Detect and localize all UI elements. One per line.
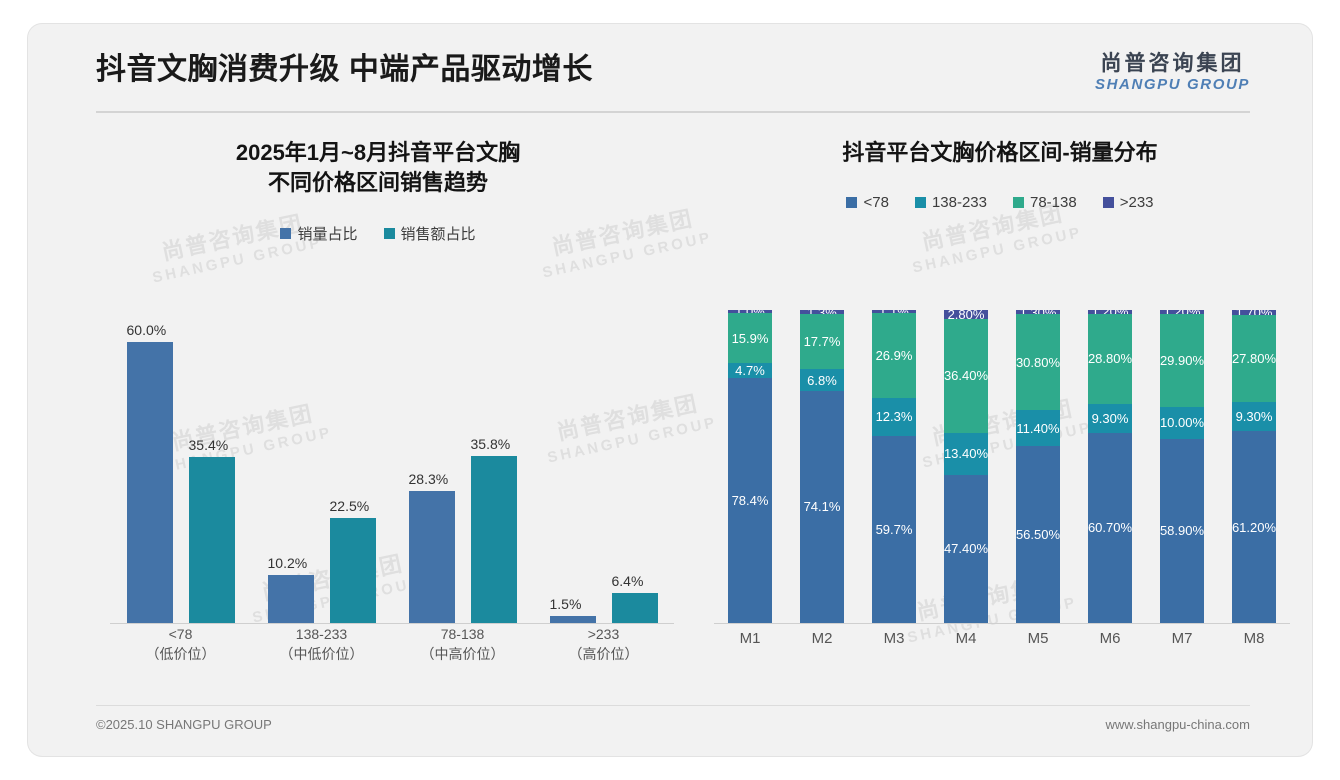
stacked-bar[interactable]: 1.3%17.7%6.8%74.1%	[800, 310, 844, 623]
stacked-bar[interactable]: 1.0%15.9%4.7%78.4%	[728, 310, 772, 623]
bar[interactable]	[550, 616, 596, 623]
bar-group: 1.5%6.4%	[539, 304, 669, 623]
stacked-bar-segment[interactable]: 12.3%	[872, 398, 916, 436]
bar-value-label: 28.3%	[409, 471, 449, 487]
stacked-bar-segment[interactable]: 36.40%	[944, 319, 988, 433]
segment-value-label: 12.3%	[876, 409, 913, 424]
bar-value-label: 22.5%	[330, 498, 370, 514]
x-axis-label: M5	[1016, 624, 1060, 647]
stacked-bar-segment[interactable]: 29.90%	[1160, 314, 1204, 408]
segment-value-label: 26.9%	[876, 348, 913, 363]
segment-value-label: 60.70%	[1088, 520, 1132, 535]
segment-value-label: 59.7%	[876, 522, 913, 537]
segment-value-label: 47.40%	[944, 541, 988, 556]
legend-swatch-icon	[280, 228, 291, 239]
stacked-bar-segment[interactable]: 9.30%	[1232, 402, 1276, 431]
left-chart-title: 2025年1月~8月抖音平台文胸 不同价格区间销售趋势	[68, 138, 688, 197]
bar-column[interactable]: 35.8%	[471, 304, 517, 623]
legend-item[interactable]: 销售额占比	[384, 223, 476, 244]
stacked-bar-segment[interactable]: 13.40%	[944, 433, 988, 475]
legend-label: <78	[863, 194, 888, 211]
legend-swatch-icon	[384, 228, 395, 239]
x-axis-label-tier: （低价位）	[116, 644, 246, 664]
stacked-bar-segment[interactable]: 56.50%	[1016, 446, 1060, 623]
legend-swatch-icon	[846, 197, 857, 208]
segment-value-label: 30.80%	[1016, 355, 1060, 370]
stacked-bar[interactable]: 2.80%36.40%13.40%47.40%	[944, 310, 988, 623]
legend-swatch-icon	[915, 197, 926, 208]
stacked-bar-segment[interactable]: 6.8%	[800, 369, 844, 390]
bar[interactable]	[330, 518, 376, 623]
segment-value-label: 61.20%	[1232, 520, 1276, 535]
bar-value-label: 35.4%	[189, 437, 229, 453]
stacked-bar[interactable]: 1.70%27.80%9.30%61.20%	[1232, 310, 1276, 623]
bar-column[interactable]: 28.3%	[409, 304, 455, 623]
stacked-bar-segment[interactable]: 61.20%	[1232, 431, 1276, 623]
header-divider	[96, 111, 1250, 113]
segment-value-label: 9.30%	[1236, 409, 1273, 424]
bar-value-label: 60.0%	[127, 322, 167, 338]
stacked-bar-segment[interactable]: 58.90%	[1160, 439, 1204, 623]
legend-item[interactable]: 销量占比	[280, 223, 357, 244]
x-axis-label: M2	[800, 624, 844, 647]
logo-text-en: SHANGPU GROUP	[1095, 76, 1250, 94]
left-chart-title-line2: 不同价格区间销售趋势	[68, 168, 688, 198]
footer-copyright: ©2025.10 SHANGPU GROUP	[96, 717, 272, 732]
segment-value-label: 28.80%	[1088, 351, 1132, 366]
bar-column[interactable]: 60.0%	[127, 304, 173, 623]
stacked-bar-segment[interactable]: 26.9%	[872, 313, 916, 397]
bar[interactable]	[409, 491, 455, 623]
segment-value-label: 78.4%	[732, 493, 769, 508]
bar[interactable]	[127, 342, 173, 623]
bar[interactable]	[189, 457, 235, 623]
x-axis-label-range: >233	[539, 624, 669, 644]
x-axis-label-tier: （中高价位）	[398, 644, 528, 664]
segment-value-label: 58.90%	[1160, 523, 1204, 538]
stacked-bar-segment[interactable]: 9.30%	[1088, 404, 1132, 433]
x-axis-label-range: 138-233	[257, 624, 387, 644]
x-axis-label-range: <78	[116, 624, 246, 644]
bar-value-label: 1.5%	[550, 596, 582, 612]
stacked-bar-segment[interactable]: 28.80%	[1088, 314, 1132, 404]
segment-value-label: 9.30%	[1092, 411, 1129, 426]
stacked-bar[interactable]: 1.1%26.9%12.3%59.7%	[872, 310, 916, 623]
segment-value-label: 10.00%	[1160, 415, 1204, 430]
logo-text-cn: 尚普咨询集团	[1095, 52, 1250, 76]
left-chart-plot: 60.0%35.4%10.2%22.5%28.3%35.8%1.5%6.4% <…	[68, 304, 688, 664]
x-axis-label: >233（高价位）	[539, 624, 669, 664]
left-chart-title-line1: 2025年1月~8月抖音平台文胸	[68, 138, 688, 168]
legend-label: >233	[1120, 194, 1154, 211]
x-axis-label: M8	[1232, 624, 1276, 647]
segment-value-label: 15.9%	[732, 331, 769, 346]
legend-label: 销售额占比	[401, 223, 476, 244]
stacked-bar-segment[interactable]: 4.7%	[728, 363, 772, 378]
stacked-bar-segment[interactable]: 17.7%	[800, 314, 844, 369]
left-chart-legend: 销量占比销售额占比	[68, 223, 688, 244]
stacked-bar-segment[interactable]: 15.9%	[728, 313, 772, 363]
segment-value-label: 36.40%	[944, 368, 988, 383]
bar-group: 10.2%22.5%	[257, 304, 387, 623]
segment-value-label: 6.8%	[807, 373, 837, 388]
x-axis-label: M3	[872, 624, 916, 647]
slide-header: 抖音文胸消费升级 中端产品驱动增长 尚普咨询集团 SHANGPU GROUP	[28, 24, 1312, 116]
legend-item[interactable]: 78-138	[1013, 194, 1077, 211]
bar-value-label: 10.2%	[268, 555, 308, 571]
x-axis-label: M4	[944, 624, 988, 647]
bar-column[interactable]: 6.4%	[612, 304, 658, 623]
x-axis-label: 138-233（中低价位）	[257, 624, 387, 664]
bar[interactable]	[471, 456, 517, 623]
stacked-bar-segment[interactable]: 27.80%	[1232, 315, 1276, 402]
legend-label: 138-233	[932, 194, 987, 211]
stacked-bar-segment[interactable]: 47.40%	[944, 475, 988, 623]
legend-item[interactable]: >233	[1103, 194, 1154, 211]
bar-group: 28.3%35.8%	[398, 304, 528, 623]
bar-column[interactable]: 35.4%	[189, 304, 235, 623]
footer-divider	[96, 705, 1250, 706]
stacked-bar[interactable]: 1.20%29.90%10.00%58.90%	[1160, 310, 1204, 623]
legend-swatch-icon	[1103, 197, 1114, 208]
segment-value-label: 74.1%	[804, 499, 841, 514]
slide-canvas: 尚普咨询集团 SHANGPU GROUP 尚普咨询集团 SHANGPU GROU…	[28, 24, 1312, 756]
footer-website: www.shangpu-china.com	[1105, 717, 1250, 732]
legend-swatch-icon	[1013, 197, 1024, 208]
segment-value-label: 56.50%	[1016, 527, 1060, 542]
x-axis-label-tier: （中低价位）	[257, 644, 387, 664]
stacked-bar-segment[interactable]: 10.00%	[1160, 407, 1204, 438]
stacked-bar-segment[interactable]: 74.1%	[800, 391, 844, 623]
stacked-bar-segment[interactable]: 59.7%	[872, 436, 916, 623]
x-axis-label: 78-138（中高价位）	[398, 624, 528, 664]
stacked-bar[interactable]: 1.30%30.80%11.40%56.50%	[1016, 310, 1060, 623]
bar-value-label: 35.8%	[471, 436, 511, 452]
segment-value-label: 13.40%	[944, 446, 988, 461]
right-chart-panel: 抖音平台文胸价格区间-销量分布 <78138-23378-138>233 1.0…	[700, 124, 1300, 714]
x-axis-label-range: 78-138	[398, 624, 528, 644]
stacked-bar-segment[interactable]: 30.80%	[1016, 314, 1060, 410]
stacked-bar-segment[interactable]: 78.4%	[728, 378, 772, 623]
bar-column[interactable]: 10.2%	[268, 304, 314, 623]
stacked-bar-segment[interactable]: 11.40%	[1016, 410, 1060, 446]
left-chart-panel: 2025年1月~8月抖音平台文胸 不同价格区间销售趋势 销量占比销售额占比 60…	[68, 124, 688, 714]
stacked-bar-segment[interactable]: 2.80%	[944, 310, 988, 319]
bar[interactable]	[268, 575, 314, 623]
segment-value-label: 29.90%	[1160, 353, 1204, 368]
legend-item[interactable]: 138-233	[915, 194, 987, 211]
right-chart-plot: 1.0%15.9%4.7%78.4%1.3%17.7%6.8%74.1%1.1%…	[700, 304, 1300, 664]
x-axis-label: M6	[1088, 624, 1132, 647]
x-axis-label-tier: （高价位）	[539, 644, 669, 664]
right-chart-title: 抖音平台文胸价格区间-销量分布	[700, 138, 1300, 168]
segment-value-label: 17.7%	[804, 334, 841, 349]
segment-value-label: 27.80%	[1232, 351, 1276, 366]
stacked-bar[interactable]: 1.20%28.80%9.30%60.70%	[1088, 310, 1132, 623]
segment-value-label: 4.7%	[735, 363, 765, 378]
bar[interactable]	[612, 593, 658, 623]
x-axis-label: M7	[1160, 624, 1204, 647]
legend-label: 销量占比	[297, 223, 357, 244]
legend-item[interactable]: <78	[846, 194, 888, 211]
stacked-bar-segment[interactable]: 60.70%	[1088, 433, 1132, 623]
bar-group: 60.0%35.4%	[116, 304, 246, 623]
legend-label: 78-138	[1030, 194, 1077, 211]
brand-logo: 尚普咨询集团 SHANGPU GROUP	[1095, 52, 1250, 94]
bar-column[interactable]: 22.5%	[330, 304, 376, 623]
bar-value-label: 6.4%	[612, 573, 644, 589]
segment-value-label: 11.40%	[1016, 421, 1059, 436]
bar-column[interactable]: 1.5%	[550, 304, 596, 623]
right-chart-legend: <78138-23378-138>233	[700, 194, 1300, 211]
x-axis-label: M1	[728, 624, 772, 647]
page-title: 抖音文胸消费升级 中端产品驱动增长	[96, 44, 593, 88]
x-axis-label: <78（低价位）	[116, 624, 246, 664]
